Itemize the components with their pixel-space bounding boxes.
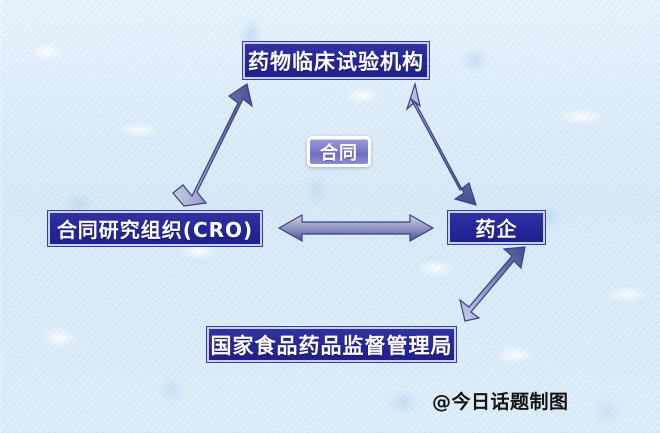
diagram-canvas: Institution (upper-left diagonal) --> Ph…: [0, 0, 660, 433]
node-drug-clinical-trial-institution[interactable]: 药物临床试验机构: [243, 42, 429, 79]
contract-label-chip[interactable]: 合同: [307, 136, 371, 167]
node-contract-research-organization[interactable]: 合同研究组织(CRO): [48, 211, 262, 246]
watermark-credit: @今日话题制图: [432, 387, 569, 414]
node-cfda-regulator[interactable]: 国家食品药品监督管理局: [207, 327, 456, 362]
node-pharmaceutical-company[interactable]: 药企: [448, 211, 545, 244]
